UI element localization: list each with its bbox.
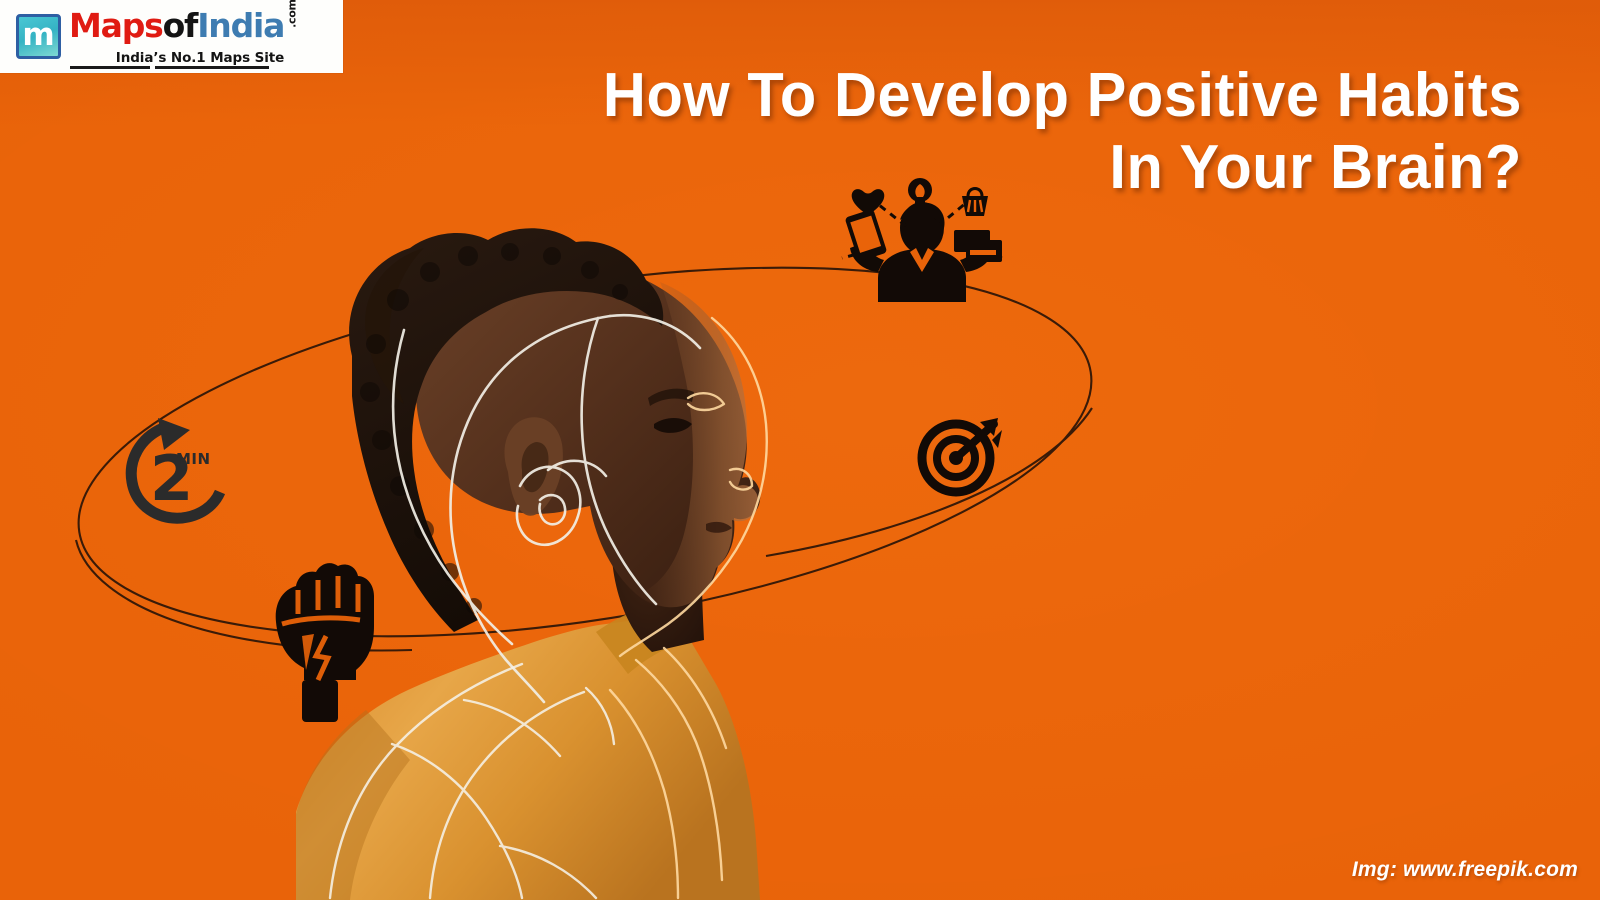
logo-text: MapsofIndia .com India’s No.1 Maps Site: [69, 7, 284, 66]
person-illustration: [296, 228, 760, 900]
logo-underline-right: [155, 66, 269, 69]
image-credit: Img: www.freepik.com: [1352, 858, 1578, 882]
mapsofindia-logo[interactable]: m MapsofIndia .com India’s No.1 Maps Sit…: [0, 0, 343, 73]
logo-m-icon: m: [16, 14, 61, 59]
logo-word-of: of: [163, 6, 198, 45]
svg-text:MIN: MIN: [176, 450, 211, 468]
logo-m-letter: m: [22, 20, 54, 51]
page-title: How To Develop Positive Habits In Your B…: [402, 60, 1522, 204]
poster-canvas: 2 MIN: [0, 0, 1600, 900]
logo-word-maps: Maps: [69, 6, 163, 45]
page-title-line-2: In Your Brain?: [447, 132, 1522, 204]
target-dart-icon: [922, 418, 1002, 492]
raised-fist-icon: [276, 563, 374, 722]
logo-wordmark: MapsofIndia .com: [69, 9, 284, 43]
two-minute-timer-icon: 2 MIN: [131, 418, 220, 518]
logo-dotcom: .com: [286, 0, 297, 28]
logo-underline-left: [70, 66, 150, 69]
logo-tagline: India’s No.1 Maps Site: [69, 50, 284, 66]
page-title-line-1: How To Develop Positive Habits: [447, 60, 1522, 132]
logo-word-india: India: [197, 6, 284, 45]
